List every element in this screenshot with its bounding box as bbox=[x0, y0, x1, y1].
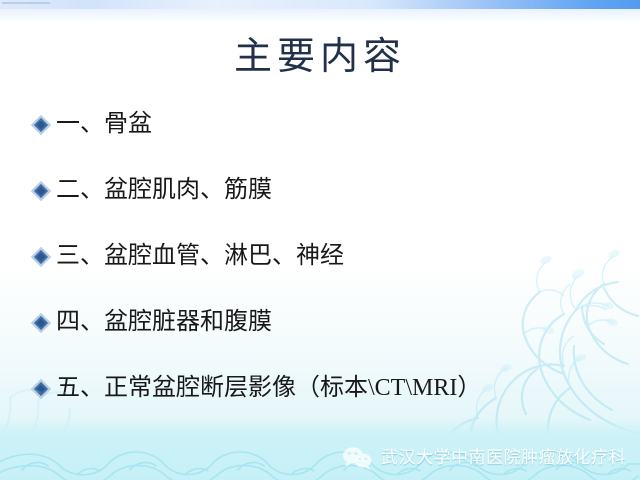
list-item-label: 一、骨盆 bbox=[56, 108, 614, 140]
wechat-icon bbox=[341, 445, 373, 471]
list-item: 一、骨盆 bbox=[34, 108, 614, 174]
list-item: 三、盆腔血管、淋巴、神经 bbox=[34, 240, 614, 306]
list-item-label: 四、盆腔脏器和腹膜 bbox=[56, 306, 614, 338]
top-accent-fade bbox=[0, 9, 640, 23]
slide-title: 主要内容 bbox=[0, 33, 640, 81]
list-item-label: 二、盆腔肌肉、筋膜 bbox=[56, 174, 614, 206]
list-item-label: 三、盆腔血管、淋巴、神经 bbox=[56, 240, 614, 272]
diamond-bullet-icon bbox=[34, 174, 56, 206]
diamond-bullet-icon bbox=[34, 372, 56, 404]
top-left-dash-mark bbox=[2, 2, 50, 4]
list-item: 四、盆腔脏器和腹膜 bbox=[34, 306, 614, 372]
top-accent-strip bbox=[0, 0, 640, 9]
diamond-bullet-icon bbox=[34, 108, 56, 140]
list-item-label: 五、正常盆腔断层影像（标本\CT\MRI） bbox=[56, 372, 614, 404]
diamond-bullet-icon bbox=[34, 306, 56, 338]
list-item: 二、盆腔肌肉、筋膜 bbox=[34, 174, 614, 240]
diamond-bullet-icon bbox=[34, 240, 56, 272]
footer-label: 武汉大学中南医院肿瘤放化疗科 bbox=[381, 447, 626, 469]
footer-watermark: 武汉大学中南医院肿瘤放化疗科 bbox=[341, 445, 626, 471]
presentation-slide: 主要内容 一、骨盆 二、盆腔肌肉、筋膜 三、盆腔血管、淋巴、神经 四、盆腔脏 bbox=[0, 0, 640, 480]
content-outline-list: 一、骨盆 二、盆腔肌肉、筋膜 三、盆腔血管、淋巴、神经 四、盆腔脏器和腹膜 五、 bbox=[34, 108, 614, 438]
